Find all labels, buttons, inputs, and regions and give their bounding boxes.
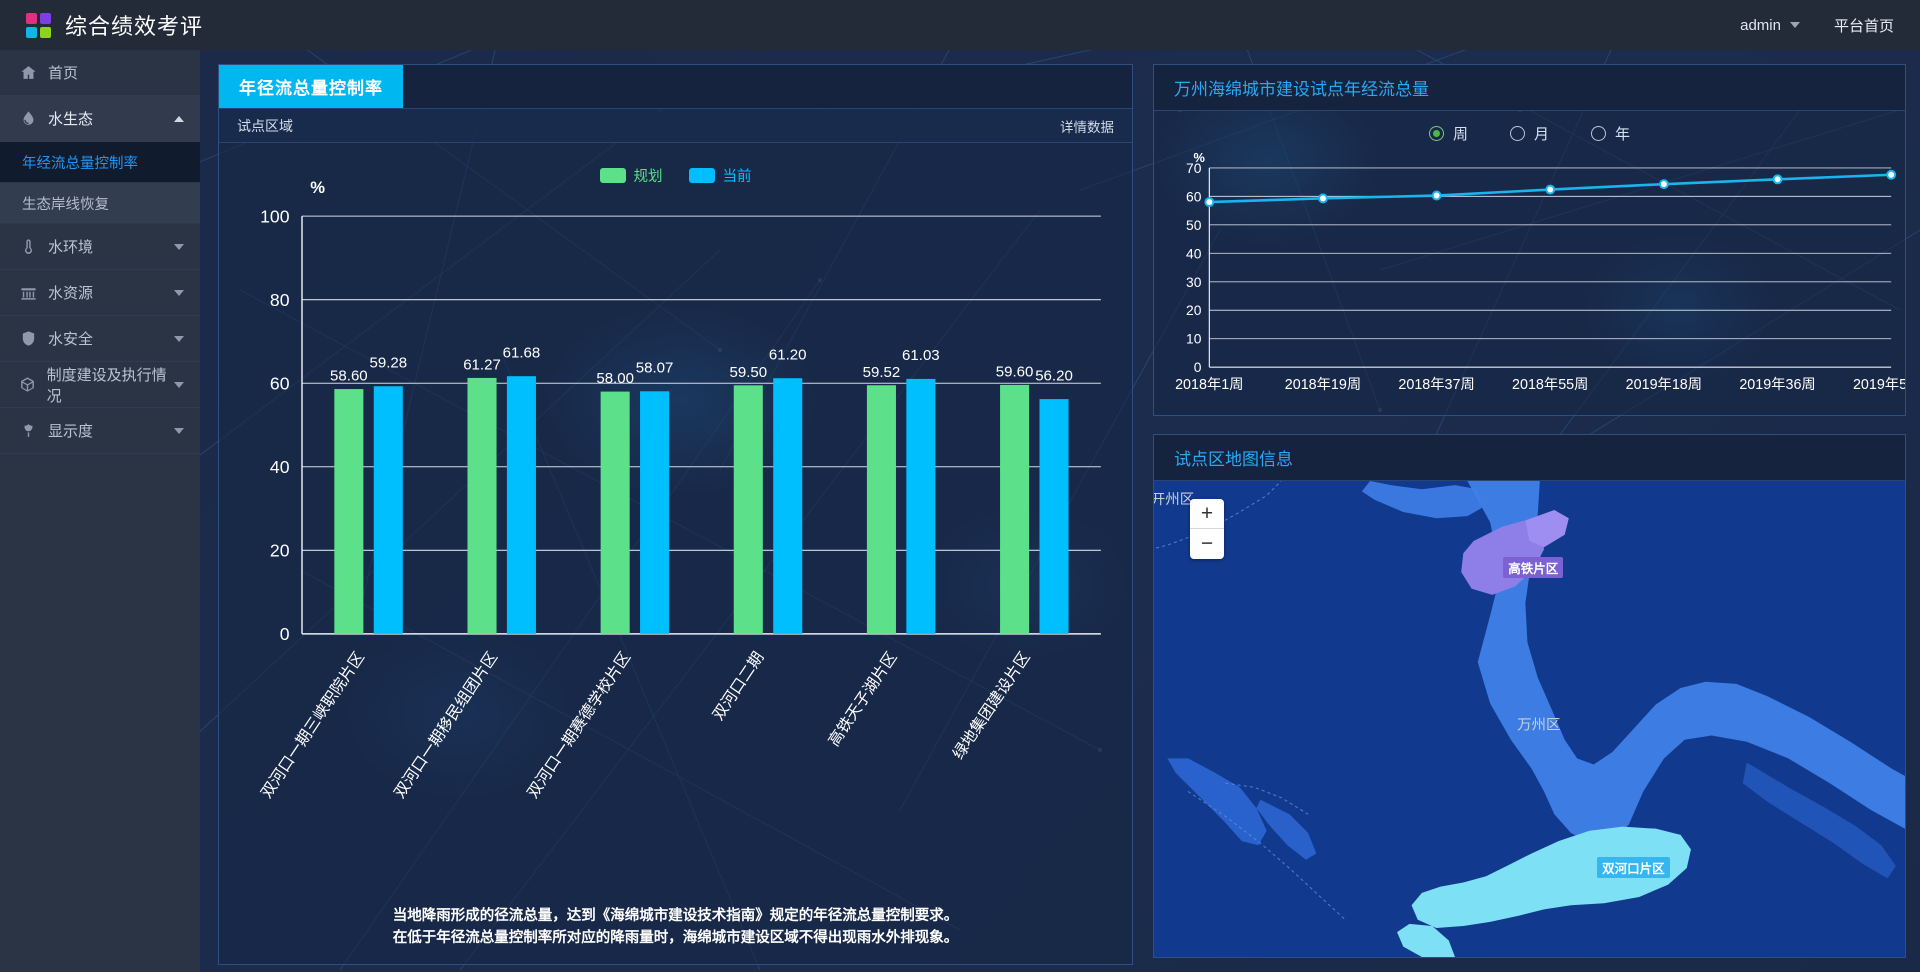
sidebar-item-label: 水环境 (48, 236, 93, 257)
legend-swatch-current (689, 168, 715, 183)
svg-text:70: 70 (1186, 160, 1202, 176)
svg-text:40: 40 (1186, 245, 1202, 261)
svg-text:61.20: 61.20 (769, 346, 807, 363)
svg-text:56.20: 56.20 (1035, 367, 1073, 384)
map-label-kaizhou: 开州区 (1154, 492, 1194, 508)
chevron-down-icon (1790, 22, 1800, 28)
svg-text:2018年19周: 2018年19周 (1285, 376, 1361, 393)
radio-month[interactable]: 月 (1510, 123, 1549, 144)
bar-chart-legend: 规划 当前 (219, 165, 1132, 186)
chevron-down-icon (174, 290, 184, 296)
pilot-area-label: 试点区域 (237, 116, 293, 136)
svg-text:高铁天子湖片区: 高铁天子湖片区 (825, 649, 901, 750)
line-chart-area: %0102030405060702018年1周2018年19周2018年37周2… (1154, 146, 1905, 415)
chevron-down-icon (174, 336, 184, 342)
svg-text:59.50: 59.50 (729, 364, 767, 381)
body-row: 首页 水生态 年经流总量控制率 生态岸线恢复 水环境 (0, 50, 1920, 972)
box-icon (16, 376, 39, 393)
svg-text:61.68: 61.68 (503, 344, 541, 361)
tab-annual-runoff-control-rate[interactable]: 年径流总量控制率 (219, 65, 403, 108)
svg-text:2019年54周: 2019年54周 (1853, 376, 1905, 393)
svg-text:100: 100 (260, 206, 290, 226)
footnote-line-2: 在低于年径流总量控制率所对应的降雨量时，海绵城市建设区域不得出现雨水外排现象。 (219, 927, 1132, 949)
radio-week[interactable]: 周 (1429, 123, 1468, 144)
svg-text:2018年55周: 2018年55周 (1512, 376, 1588, 393)
footnote-line-1: 当地降雨形成的径流总量，达到《海绵城市建设技术指南》规定的年径流总量控制要求。 (219, 905, 1132, 927)
svg-text:2018年1周: 2018年1周 (1175, 376, 1243, 393)
svg-text:61.03: 61.03 (902, 347, 940, 364)
map-panel: 试点区地图信息 (1153, 434, 1906, 958)
water-drop-icon (16, 110, 40, 127)
tulip-icon (16, 422, 40, 439)
sidebar: 首页 水生态 年经流总量控制率 生态岸线恢复 水环境 (0, 50, 200, 972)
bar-chart-panel-header: 年径流总量控制率 (219, 65, 1132, 109)
sidebar-item-label: 显示度 (48, 420, 93, 441)
line-chart-panel: 万州海绵城市建设试点年经流总量 周 月 年 (1153, 64, 1906, 416)
svg-text:30: 30 (1186, 274, 1202, 290)
line-chart-title: 万州海绵城市建设试点年经流总量 (1174, 75, 1429, 100)
platform-home-link[interactable]: 平台首页 (1834, 15, 1894, 36)
bar-chart-panel-column: 年径流总量控制率 试点区域 详情数据 规划 (218, 64, 1133, 958)
line-chart-panel-header: 万州海绵城市建设试点年经流总量 (1154, 65, 1905, 111)
shield-icon (16, 330, 40, 347)
app-root: 综合绩效考评 admin 平台首页 首页 水生态 (0, 0, 1920, 972)
brand: 综合绩效考评 (0, 9, 200, 41)
sidebar-item-label: 水资源 (48, 282, 93, 303)
svg-text:40: 40 (270, 457, 290, 477)
user-name: admin (1740, 17, 1781, 34)
svg-text:10: 10 (1186, 331, 1202, 347)
sidebar-item-water-environment[interactable]: 水环境 (0, 224, 200, 270)
period-radio-group: 周 月 年 (1154, 111, 1905, 146)
svg-text:20: 20 (1186, 302, 1202, 318)
sidebar-subitem-annual-runoff-control-rate[interactable]: 年经流总量控制率 (0, 142, 200, 183)
sidebar-item-home[interactable]: 首页 (0, 50, 200, 96)
detail-data-link[interactable]: 详情数据 (1060, 116, 1114, 136)
svg-text:80: 80 (270, 290, 290, 310)
sidebar-subitem-label: 年经流总量控制率 (22, 152, 138, 173)
sidebar-item-label: 水安全 (48, 328, 93, 349)
user-menu[interactable]: admin (1740, 17, 1800, 34)
svg-text:绿地集团建设片区: 绿地集团建设片区 (949, 649, 1033, 763)
grid-logo-icon (26, 13, 51, 38)
map-zoom-controls[interactable]: + − (1190, 499, 1224, 559)
radio-year[interactable]: 年 (1591, 123, 1630, 144)
line-chart-svg: %0102030405060702018年1周2018年19周2018年37周2… (1154, 146, 1905, 415)
sidebar-item-label: 首页 (48, 62, 78, 83)
map-graphic: 开州区 万州区 (1154, 481, 1905, 957)
bar-chart-panel: 年径流总量控制率 试点区域 详情数据 规划 (218, 64, 1133, 965)
svg-text:0: 0 (1194, 359, 1202, 375)
svg-text:0: 0 (280, 624, 290, 644)
sidebar-item-label: 水生态 (48, 108, 93, 129)
svg-text:58.07: 58.07 (636, 359, 674, 376)
sidebar-item-water-resources[interactable]: 水资源 (0, 270, 200, 316)
svg-text:双河口一期三峡职院片区: 双河口一期三峡职院片区 (257, 648, 368, 801)
sidebar-item-label: 制度建设及执行情况 (47, 364, 174, 406)
legend-item-plan[interactable]: 规划 (600, 165, 663, 186)
svg-text:61.27: 61.27 (463, 357, 501, 374)
top-bar: 综合绩效考评 admin 平台首页 (0, 0, 1920, 50)
sidebar-item-water-safety[interactable]: 水安全 (0, 316, 200, 362)
svg-text:双河口一期赛德学校片区: 双河口一期赛德学校片区 (523, 648, 634, 801)
map-zoom-out-button[interactable]: − (1190, 529, 1224, 559)
home-icon (16, 64, 40, 81)
svg-text:59.60: 59.60 (996, 363, 1034, 380)
chevron-down-icon (174, 382, 184, 388)
radio-label-year: 年 (1615, 123, 1630, 144)
svg-text:59.52: 59.52 (863, 364, 901, 381)
svg-text:60: 60 (1186, 188, 1202, 204)
right-column: 万州海绵城市建设试点年经流总量 周 月 年 (1153, 64, 1906, 958)
radio-label-week: 周 (1453, 123, 1468, 144)
svg-text:60: 60 (270, 373, 290, 393)
bar-chart-svg: %02040608010058.6059.28双河口一期三峡职院片区61.276… (219, 143, 1132, 895)
radio-label-month: 月 (1534, 123, 1549, 144)
svg-text:2018年37周: 2018年37周 (1398, 376, 1474, 393)
sidebar-subitem-shoreline-restoration[interactable]: 生态岸线恢复 (0, 183, 200, 224)
svg-text:59.28: 59.28 (369, 354, 407, 371)
chevron-up-icon (174, 116, 184, 122)
map-tag-gaotie[interactable]: 高铁片区 (1503, 557, 1563, 578)
map-label-wanzhou: 万州区 (1517, 717, 1560, 733)
svg-text:双河口二期: 双河口二期 (709, 649, 767, 724)
thermometer-icon (16, 238, 40, 255)
svg-text:2019年36周: 2019年36周 (1739, 376, 1815, 393)
bank-icon (16, 284, 40, 301)
chevron-down-icon (174, 428, 184, 434)
legend-item-current[interactable]: 当前 (689, 165, 752, 186)
svg-text:50: 50 (1186, 217, 1202, 233)
map-title: 试点区地图信息 (1174, 445, 1293, 470)
app-title: 综合绩效考评 (65, 9, 203, 41)
bar-chart-area: 规划 当前 %02040608010058.6059.28双河口一期三峡职院片区… (219, 143, 1132, 895)
main-content: 年径流总量控制率 试点区域 详情数据 规划 (200, 50, 1920, 972)
map-tag-shuanghekou[interactable]: 双河口片区 (1597, 857, 1670, 878)
svg-text:20: 20 (270, 541, 290, 561)
legend-swatch-plan (600, 168, 626, 183)
map-canvas[interactable]: 开州区 万州区 + − 高铁片区 双河口片区 (1154, 481, 1905, 957)
bar-chart-footnote: 当地降雨形成的径流总量，达到《海绵城市建设技术指南》规定的年径流总量控制要求。 … (219, 895, 1132, 964)
chevron-down-icon (174, 244, 184, 250)
bar-chart-subbar: 试点区域 详情数据 (219, 109, 1132, 143)
map-zoom-in-button[interactable]: + (1190, 499, 1224, 529)
legend-label-current: 当前 (723, 165, 752, 186)
top-bar-right: admin 平台首页 (1740, 15, 1920, 36)
radio-indicator-month (1510, 126, 1525, 141)
sidebar-item-water-ecology[interactable]: 水生态 (0, 96, 200, 142)
map-panel-header: 试点区地图信息 (1154, 435, 1905, 481)
svg-text:双河口一期移民组团片区: 双河口一期移民组团片区 (391, 649, 502, 802)
svg-text:58.60: 58.60 (330, 368, 368, 385)
sidebar-item-system-construction[interactable]: 制度建设及执行情况 (0, 362, 200, 408)
sidebar-item-visibility[interactable]: 显示度 (0, 408, 200, 454)
radio-indicator-year (1591, 126, 1606, 141)
svg-text:2019年18周: 2019年18周 (1626, 376, 1702, 393)
sidebar-subitem-label: 生态岸线恢复 (22, 193, 109, 214)
radio-indicator-week (1429, 126, 1444, 141)
legend-label-plan: 规划 (634, 165, 663, 186)
svg-text:58.00: 58.00 (596, 370, 634, 387)
